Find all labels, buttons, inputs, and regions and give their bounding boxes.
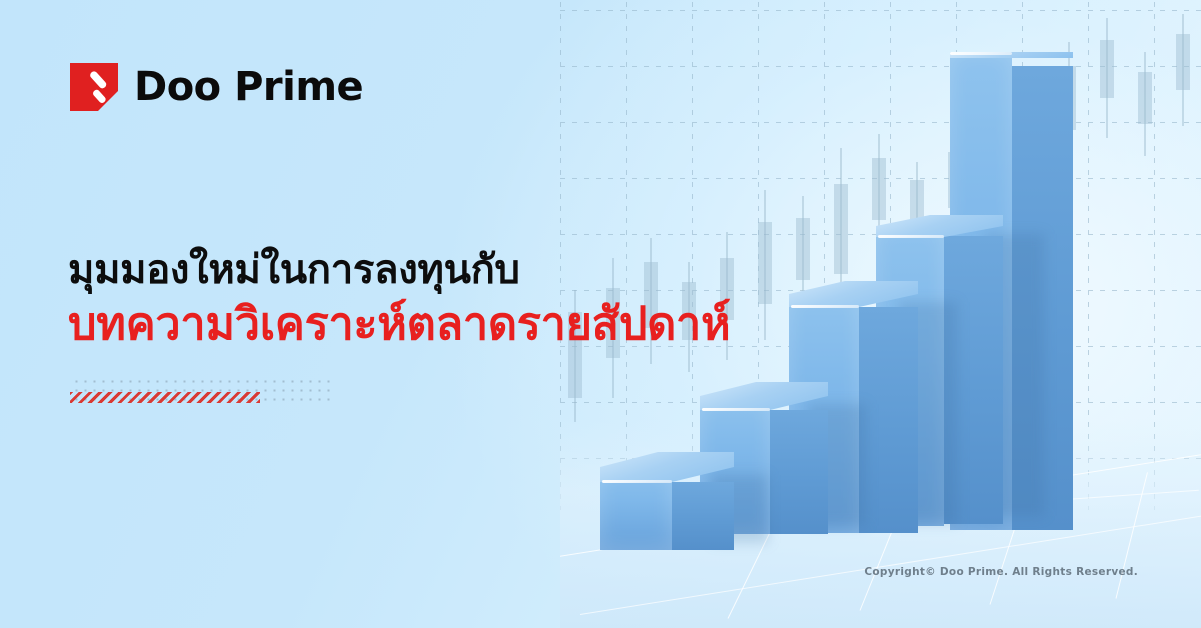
headline-block: มุมมองใหม่ในการลงทุนกับ บทความวิเคราะห์ต… (68, 246, 828, 352)
headline-line-1: มุมมองใหม่ในการลงทุนกับ (68, 246, 828, 295)
headline-line-2: บทความวิเคราะห์ตลาดรายสัปดาห์ (68, 297, 828, 352)
promo-banner: Doo Prime มุมมองใหม่ในการลงทุนกับ บทความ… (0, 0, 1201, 628)
brand-name: Doo Prime (134, 67, 363, 107)
doo-prime-logo-mark (70, 63, 118, 111)
red-stripe-bar-decoration (70, 392, 260, 403)
copyright-text: Copyright© Doo Prime. All Rights Reserve… (864, 566, 1138, 578)
bar-1 (600, 467, 734, 550)
brand-logo[interactable]: Doo Prime (70, 63, 363, 111)
